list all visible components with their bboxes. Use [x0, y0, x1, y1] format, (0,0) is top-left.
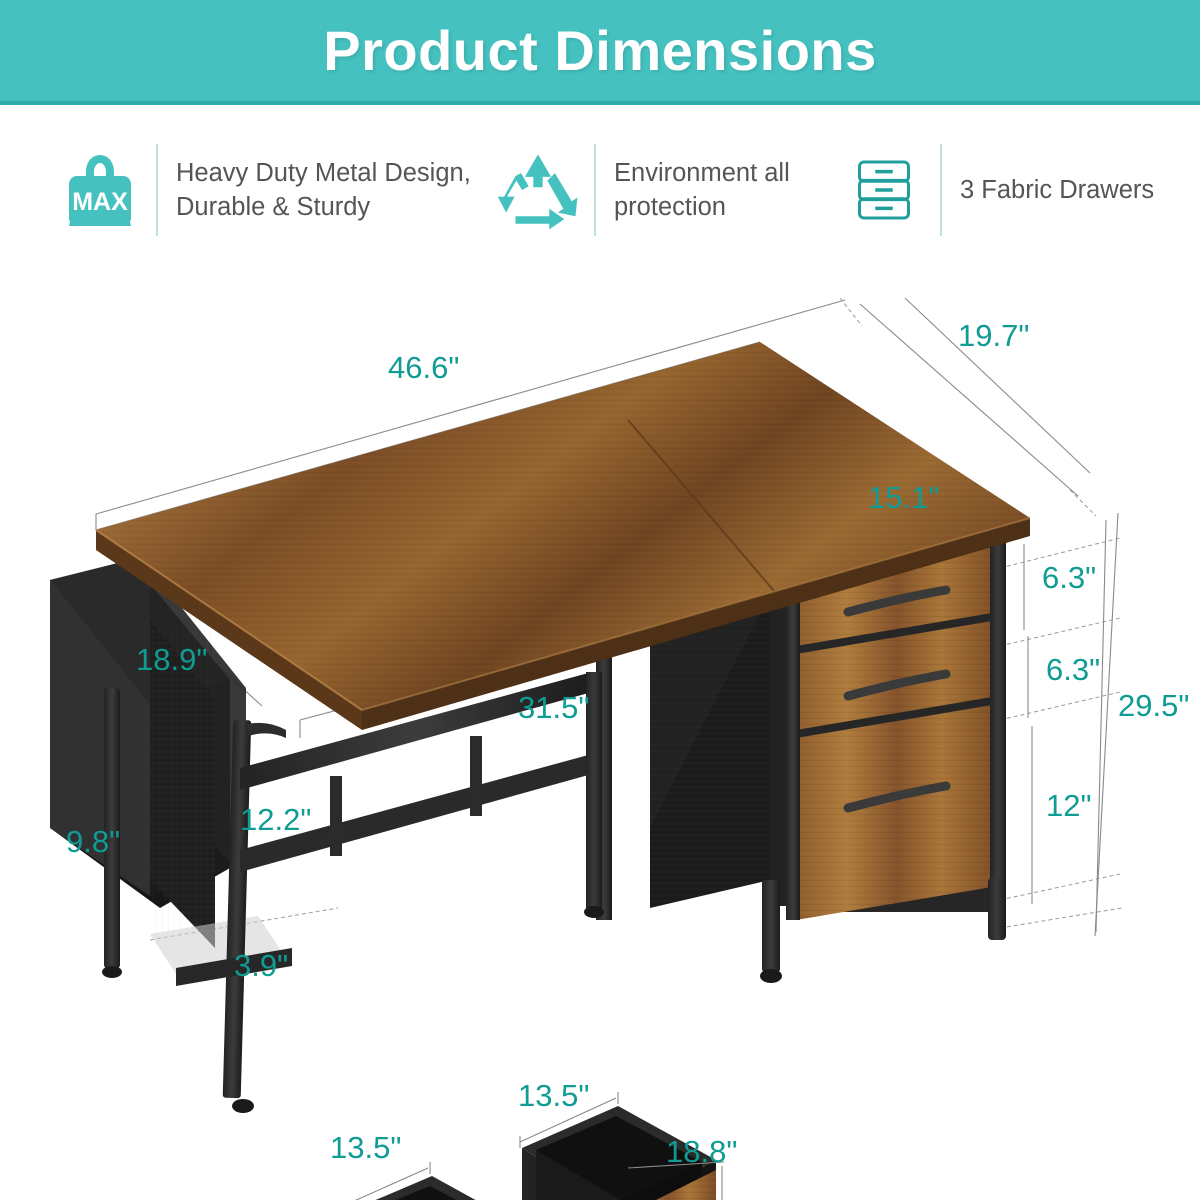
feature-divider [940, 144, 942, 236]
three-drawers-icon [836, 142, 932, 238]
feature-item-drawers: 3 Fabric Drawers [836, 142, 1156, 238]
recycle-icon [490, 142, 586, 238]
detached-drawer-small [338, 1176, 530, 1200]
dim-side-bag-depth: 18.9" [136, 642, 207, 677]
feature-item-environment: Environment all protection [490, 142, 830, 238]
dim-drawer1-height: 6.3" [1042, 560, 1096, 595]
feature-line-2: Durable & Sturdy [176, 190, 471, 224]
max-weight-icon: MAX [52, 142, 148, 238]
dim-desk-depth: 19.7" [958, 318, 1029, 353]
drawer-front-3 [796, 704, 998, 920]
dim-large-drawer-depth: 18.8" [666, 1134, 737, 1169]
feature-divider [156, 144, 158, 236]
svg-text:MAX: MAX [72, 188, 128, 216]
dim-drawer2-height: 6.3" [1046, 652, 1100, 687]
dim-small-drawer-width: 13.5" [330, 1130, 401, 1165]
dim-top-right-depth: 15.1" [868, 480, 939, 515]
product-illustration: 46.6" 19.7" 15.1" 18.9" 31.5" 9.8" 12.2"… [0, 268, 1200, 1200]
feature-label-drawers: 3 Fabric Drawers [960, 173, 1154, 207]
dim-side-bag-bottom: 3.9" [234, 948, 288, 983]
banner-underline [0, 101, 1200, 105]
feature-item-heavy-duty: MAX Heavy Duty Metal Design, Durable & S… [52, 142, 482, 238]
dim-desk-width: 46.6" [388, 350, 459, 385]
feature-divider [594, 144, 596, 236]
feature-label-heavy-duty: Heavy Duty Metal Design, Durable & Sturd… [176, 156, 471, 225]
dim-legroom-width: 31.5" [518, 690, 589, 725]
dim-large-drawer-width: 13.5" [518, 1078, 589, 1113]
feature-line-1: Heavy Duty Metal Design, [176, 156, 471, 190]
feature-strip: MAX Heavy Duty Metal Design, Durable & S… [0, 115, 1200, 265]
dim-side-bag-width: 12.2" [240, 802, 311, 837]
feature-line-2: protection [614, 190, 790, 224]
feature-line-1: Environment all [614, 156, 790, 190]
feature-label-environment: Environment all protection [614, 156, 790, 225]
dim-total-height: 29.5" [1118, 688, 1189, 723]
feature-line-1: 3 Fabric Drawers [960, 173, 1154, 207]
header-banner: Product Dimensions [0, 0, 1200, 101]
dim-drawer3-height: 12" [1046, 788, 1092, 823]
dim-side-bag-height: 9.8" [66, 824, 120, 859]
page-title: Product Dimensions [323, 18, 877, 83]
